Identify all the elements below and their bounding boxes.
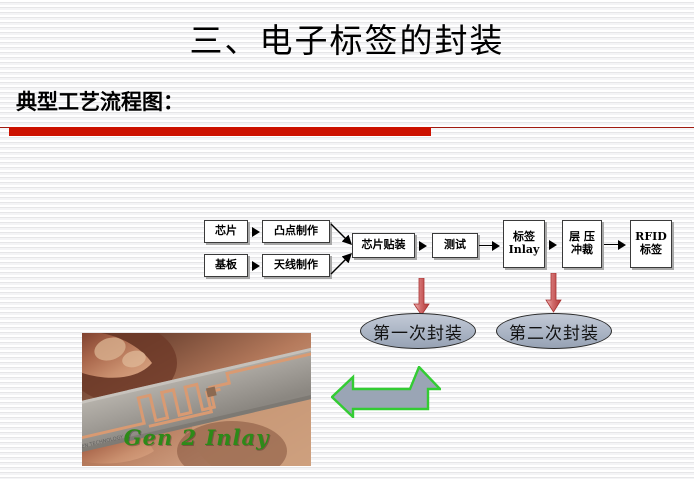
red-down-arrow-first-icon <box>413 278 431 316</box>
flow-box-chip[interactable]: 芯片 <box>204 220 248 243</box>
ellipse-second-package[interactable]: 第二次封装 <box>496 313 612 349</box>
flow-box-lamination[interactable]: 层 压 冲裁 <box>562 220 602 268</box>
flow-box-die-attach[interactable]: 芯片贴装 <box>352 233 415 258</box>
flow-box-rfid-tag[interactable]: RFID 标签 <box>630 220 672 268</box>
rfid-inlay-photo: ALIEN TECHNOLOGY Gen 2 Inlay <box>82 333 311 466</box>
arrow-die-attach-to-test-icon <box>419 241 427 251</box>
flow-box-inlay[interactable]: 标签 Inlay <box>503 220 545 268</box>
section-subheading: 典型工艺流程图： <box>16 86 184 116</box>
accent-rule-thick <box>9 127 431 136</box>
arrow-lamination-to-rfid-icon <box>618 240 626 250</box>
slide-canvas: 三、电子标签的封装 典型工艺流程图： 芯片 凸点制作 基板 天线制作 芯片贴装 … <box>0 0 694 479</box>
green-elbow-arrow-icon <box>331 366 441 418</box>
connector-test-to-inlay <box>479 245 493 246</box>
photo-illustration: ALIEN TECHNOLOGY <box>82 333 311 466</box>
arrow-inlay-to-lamination-icon <box>549 240 557 250</box>
red-down-arrow-second-icon <box>545 273 563 313</box>
flow-box-antenna[interactable]: 天线制作 <box>262 254 330 277</box>
flow-box-substrate[interactable]: 基板 <box>204 254 248 277</box>
page-title: 三、电子标签的封装 <box>0 14 694 62</box>
arrow-test-to-inlay-icon <box>492 241 500 251</box>
arrow-substrate-to-antenna-icon <box>252 261 260 271</box>
flow-box-bump[interactable]: 凸点制作 <box>262 220 330 243</box>
ellipse-first-package[interactable]: 第一次封装 <box>360 313 476 349</box>
arrow-chip-to-bump-icon <box>252 227 260 237</box>
flow-box-test[interactable]: 测试 <box>432 233 478 258</box>
